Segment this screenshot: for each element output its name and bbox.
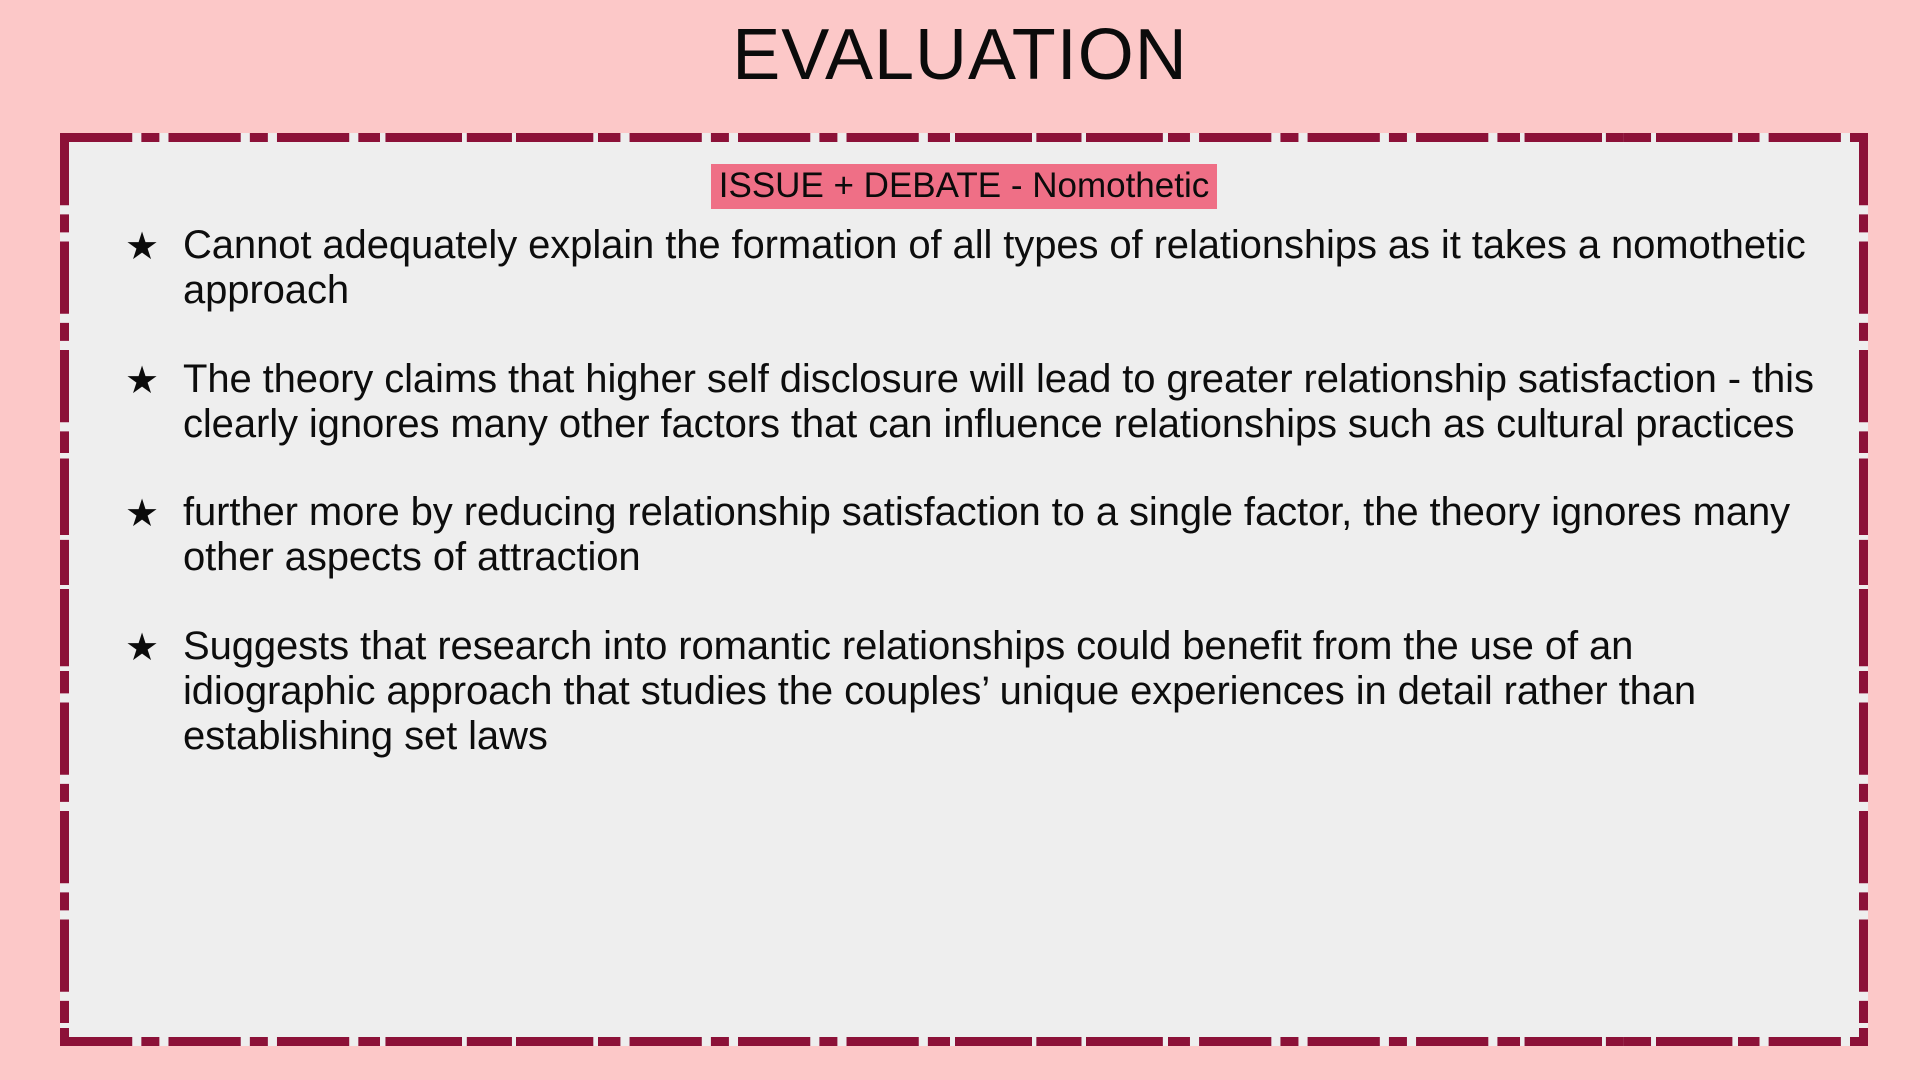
subtitle-row: ISSUE + DEBATE - Nomothetic (109, 164, 1819, 209)
list-item: ★ further more by reducing relationship … (109, 490, 1819, 580)
page-title: EVALUATION (0, 18, 1920, 94)
list-item: ★ Cannot adequately explain the formatio… (109, 223, 1819, 313)
bullet-text: further more by reducing relationship sa… (183, 490, 1819, 580)
bullet-text: Cannot adequately explain the formation … (183, 223, 1819, 313)
bullet-text: Suggests that research into romantic rel… (183, 624, 1819, 758)
evaluation-bullet-list: ★ Cannot adequately explain the formatio… (109, 223, 1819, 758)
content-panel: ISSUE + DEBATE - Nomothetic ★ Cannot ade… (60, 133, 1868, 1046)
star-icon: ★ (109, 357, 183, 404)
list-item: ★ Suggests that research into romantic r… (109, 624, 1819, 758)
list-item: ★ The theory claims that higher self dis… (109, 357, 1819, 447)
star-icon: ★ (109, 490, 183, 537)
star-icon: ★ (109, 223, 183, 270)
star-icon: ★ (109, 624, 183, 671)
bullet-text: The theory claims that higher self discl… (183, 357, 1819, 447)
slide: EVALUATION ISSUE + DEBATE - Nomothetic ★… (0, 0, 1920, 1080)
issue-debate-subtitle: ISSUE + DEBATE - Nomothetic (711, 164, 1217, 209)
